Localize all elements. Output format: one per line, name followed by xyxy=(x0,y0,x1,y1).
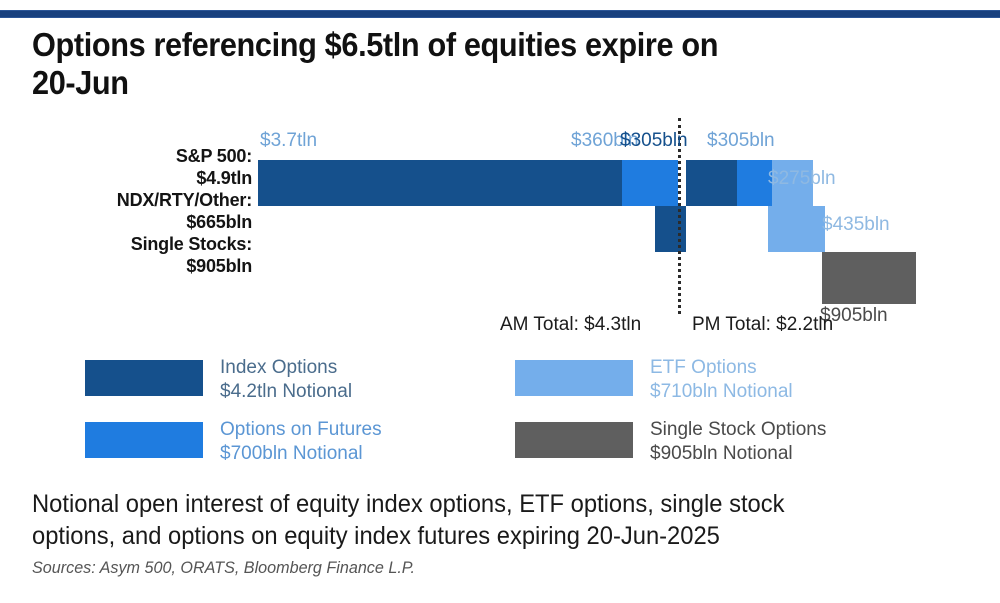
value-label-sp500-pm-etf: $275bln xyxy=(768,168,836,190)
am-total-label: AM Total: $4.3tln xyxy=(500,314,641,336)
bar-ndx-am-index-options xyxy=(655,206,686,252)
row-label-ndx-total: $665bln xyxy=(30,212,252,234)
footer-sources: Sources: Asym 500, ORATS, Bloomberg Fina… xyxy=(32,558,930,578)
legend-label-etf-options: ETF Options xyxy=(650,357,757,378)
pm-total-label: PM Total: $2.2tln xyxy=(692,314,833,336)
page-title: Options referencing $6.5tln of equities … xyxy=(32,26,897,103)
top-rule-divider xyxy=(0,10,1000,18)
row-label-single-stocks-total: $905bln xyxy=(30,256,252,278)
legend-swatch-index-options xyxy=(85,360,203,396)
row-labels: S&P 500: $4.9tln NDX/RTY/Other: $665bln … xyxy=(30,146,252,278)
bar-sp500-am-options-on-futures xyxy=(622,160,678,206)
footer-caption: Notional open interest of equity index o… xyxy=(32,488,930,552)
legend-value-single-stock-options: $905bln Notional xyxy=(650,443,793,464)
chart-legend: Index Options $4.2tln Notional Options o… xyxy=(0,358,1000,478)
bar-sp500-pm-options-on-futures xyxy=(737,160,772,206)
legend-swatch-etf-options xyxy=(515,360,633,396)
title-line-2: 20-Jun xyxy=(32,64,129,101)
legend-value-options-on-futures: $700bln Notional xyxy=(220,443,363,464)
legend-label-options-on-futures: Options on Futures xyxy=(220,419,382,440)
row-label-ndx: NDX/RTY/Other: xyxy=(30,190,252,212)
row-label-sp500: S&P 500: xyxy=(30,146,252,168)
bar-sp500-am-index-options xyxy=(258,160,622,206)
legend-swatch-single-stock-options xyxy=(515,422,633,458)
footer-caption-line-1: Notional open interest of equity index o… xyxy=(32,490,785,518)
row-label-single-stocks: Single Stocks: xyxy=(30,234,252,256)
bar-single-stocks-pm xyxy=(822,252,916,304)
footer-caption-line-2: options, and options on equity index fut… xyxy=(32,522,720,550)
legend-value-etf-options: $710bln Notional xyxy=(650,381,793,402)
value-label-sp500-pm-index: $305bln xyxy=(620,130,688,152)
bar-ndx-pm-etf-options xyxy=(768,206,825,252)
legend-value-index-options: $4.2tln Notional xyxy=(220,381,352,402)
bar-sp500-pm-index-options xyxy=(686,160,737,206)
legend-label-single-stock-options: Single Stock Options xyxy=(650,419,826,440)
value-label-sp500-pm-futures: $305bln xyxy=(707,130,775,152)
title-line-1: Options referencing $6.5tln of equities … xyxy=(32,26,718,63)
legend-swatch-options-on-futures xyxy=(85,422,203,458)
chart-footer: Notional open interest of equity index o… xyxy=(32,488,977,578)
value-label-sp500-am-index: $3.7tln xyxy=(260,130,317,152)
row-label-sp500-total: $4.9tln xyxy=(30,168,252,190)
legend-label-index-options: Index Options xyxy=(220,357,337,378)
chart-page: Options referencing $6.5tln of equities … xyxy=(0,0,1000,603)
waterfall-chart: S&P 500: $4.9tln NDX/RTY/Other: $665bln … xyxy=(0,118,1000,348)
value-label-ndx-pm-etf: $435bln xyxy=(822,214,890,236)
